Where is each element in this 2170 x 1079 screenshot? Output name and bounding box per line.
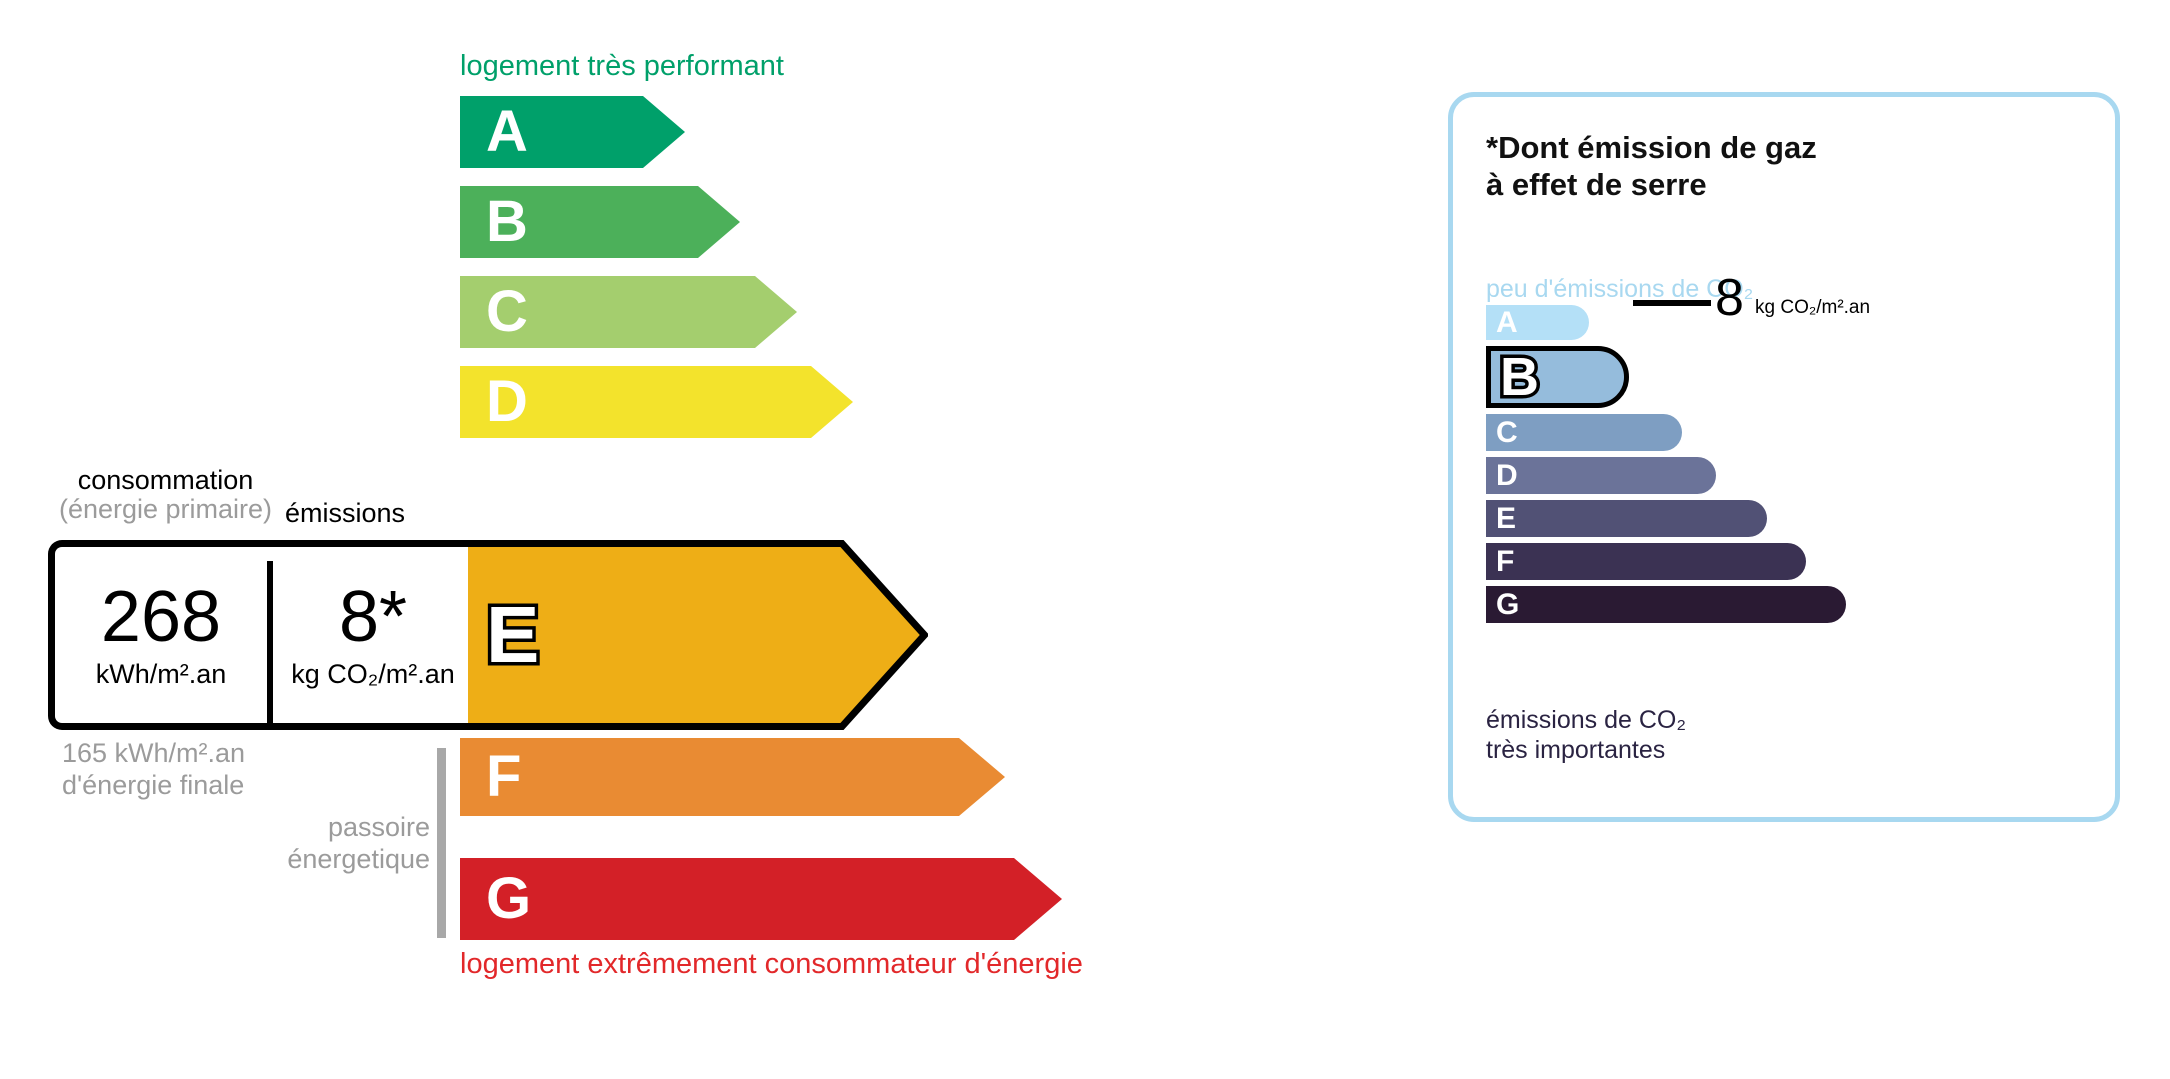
scale-top-caption: logement très performant [460,50,784,83]
co2-title-line1: *Dont émission de gaz [1486,130,1817,167]
emissions-unit: kg CO₂/m².an [291,659,455,690]
passoire-indicator-bar [437,748,446,938]
consumption-value-cell: 268 kWh/m².an [55,547,267,723]
co2-callout-value: 8 [1715,272,1744,324]
co2-bar-letter-d: D [1496,461,1518,491]
co2-bar-letter-f: F [1496,547,1514,577]
consumption-label: consommation (énergie primaire) [58,466,273,524]
energy-bar-letter-d: D [486,373,528,431]
passoire-label: passoire énergetique [230,812,430,876]
co2-top-caption: peu d'émissions de CO₂ [1486,275,1753,304]
energy-bar-f: F [460,738,1005,816]
co2-bar-d: D [1486,457,1716,494]
energy-bar-letter-c: C [486,283,528,341]
co2-bottom-caption-line1: émissions de CO₂ [1486,705,1686,735]
co2-callout-connector [1633,300,1711,306]
co2-title-line2: à effet de serre [1486,167,1817,204]
co2-bar-c: C [1486,414,1682,451]
co2-bottom-caption: émissions de CO₂ très importantes [1486,705,1686,765]
co2-bar-letter-g: G [1496,590,1519,620]
co2-bottom-caption-line2: très importantes [1486,735,1686,765]
co2-bar-a: A [1486,305,1589,340]
energy-bar-letter-g: G [486,870,531,928]
co2-panel-title: *Dont émission de gaz à effet de serre [1486,130,1817,203]
energy-bar-g: G [460,858,1062,940]
passoire-label-line1: passoire [230,812,430,844]
co2-bar-letter-a: A [1496,308,1518,338]
final-energy-value: 165 kWh/m².an [62,738,245,770]
energy-bar-b: B [460,186,740,258]
co2-bar-letter-e: E [1496,504,1516,534]
passoire-label-line2: énergetique [230,844,430,876]
energy-performance-diagram: logement très performant ABCDEFG logemen… [0,0,1400,1079]
co2-bar-letter-b: B [1500,350,1539,404]
energy-bar-shape-g [460,858,1062,940]
final-energy-text: d'énergie finale [62,770,245,802]
emissions-value: 8* [339,581,407,653]
co2-bar-letter-c: C [1496,418,1518,448]
co2-bar-shape-e [1486,500,1767,537]
energy-bar-shape-f [460,738,1005,816]
energy-bar-letter-a: A [486,103,528,161]
co2-callout-unit: kg CO₂/m².an [1755,297,1870,319]
energy-bar-e: E [460,540,928,730]
energy-bar-letter-b: B [486,193,528,251]
energy-bar-d: D [460,366,853,438]
final-energy-label: 165 kWh/m².an d'énergie finale [62,738,245,802]
co2-bar-shape-f [1486,543,1806,580]
consumption-value: 268 [101,581,221,653]
co2-bar-b: B [1486,346,1629,408]
energy-bar-a: A [460,96,685,168]
energy-bar-letter-e: E [486,595,539,675]
co2-bar-g: G [1486,586,1846,623]
consumption-label-title: consommation [78,465,254,495]
co2-bar-f: F [1486,543,1806,580]
rating-value-box: 268 kWh/m².an 8* kg CO₂/m².an [48,540,468,730]
energy-bar-letter-f: F [486,748,521,806]
co2-emissions-panel: *Dont émission de gaz à effet de serre p… [1448,92,2120,822]
scale-bottom-caption: logement extrêmement consommateur d'éner… [460,948,1083,981]
co2-bar-e: E [1486,500,1767,537]
co2-bar-shape-g [1486,586,1846,623]
consumption-label-subtitle: (énergie primaire) [58,495,273,524]
emissions-label: émissions [285,498,405,529]
energy-bar-c: C [460,276,797,348]
co2-bar-shape-d [1486,457,1716,494]
emissions-value-cell: 8* kg CO₂/m².an [273,547,473,723]
consumption-unit: kWh/m².an [96,659,227,690]
